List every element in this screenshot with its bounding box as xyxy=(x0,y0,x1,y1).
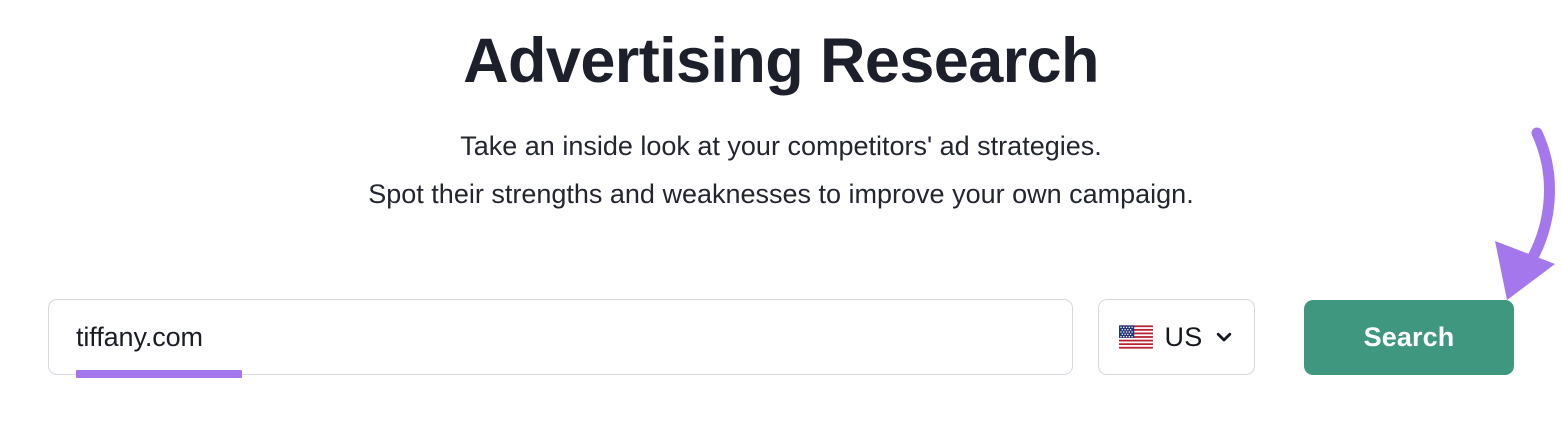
search-button[interactable]: Search xyxy=(1304,300,1514,375)
search-input[interactable] xyxy=(49,300,1072,374)
chevron-down-icon[interactable] xyxy=(1214,327,1234,347)
subtitle-line-2: Spot their strengths and weaknesses to i… xyxy=(0,170,1562,218)
country-code-label: US xyxy=(1165,324,1203,351)
advertising-research-search-panel: Advertising Research Take an inside look… xyxy=(0,0,1562,438)
page-subtitle: Take an inside look at your competitors'… xyxy=(0,100,1562,218)
us-flag-icon xyxy=(1119,325,1153,349)
search-row: US Search xyxy=(48,299,1514,375)
page-title: Advertising Research xyxy=(0,22,1562,100)
search-input-container[interactable] xyxy=(48,299,1073,375)
header-block: Advertising Research Take an inside look… xyxy=(0,22,1562,218)
subtitle-line-1: Take an inside look at your competitors'… xyxy=(0,122,1562,170)
country-select[interactable]: US xyxy=(1098,299,1255,375)
